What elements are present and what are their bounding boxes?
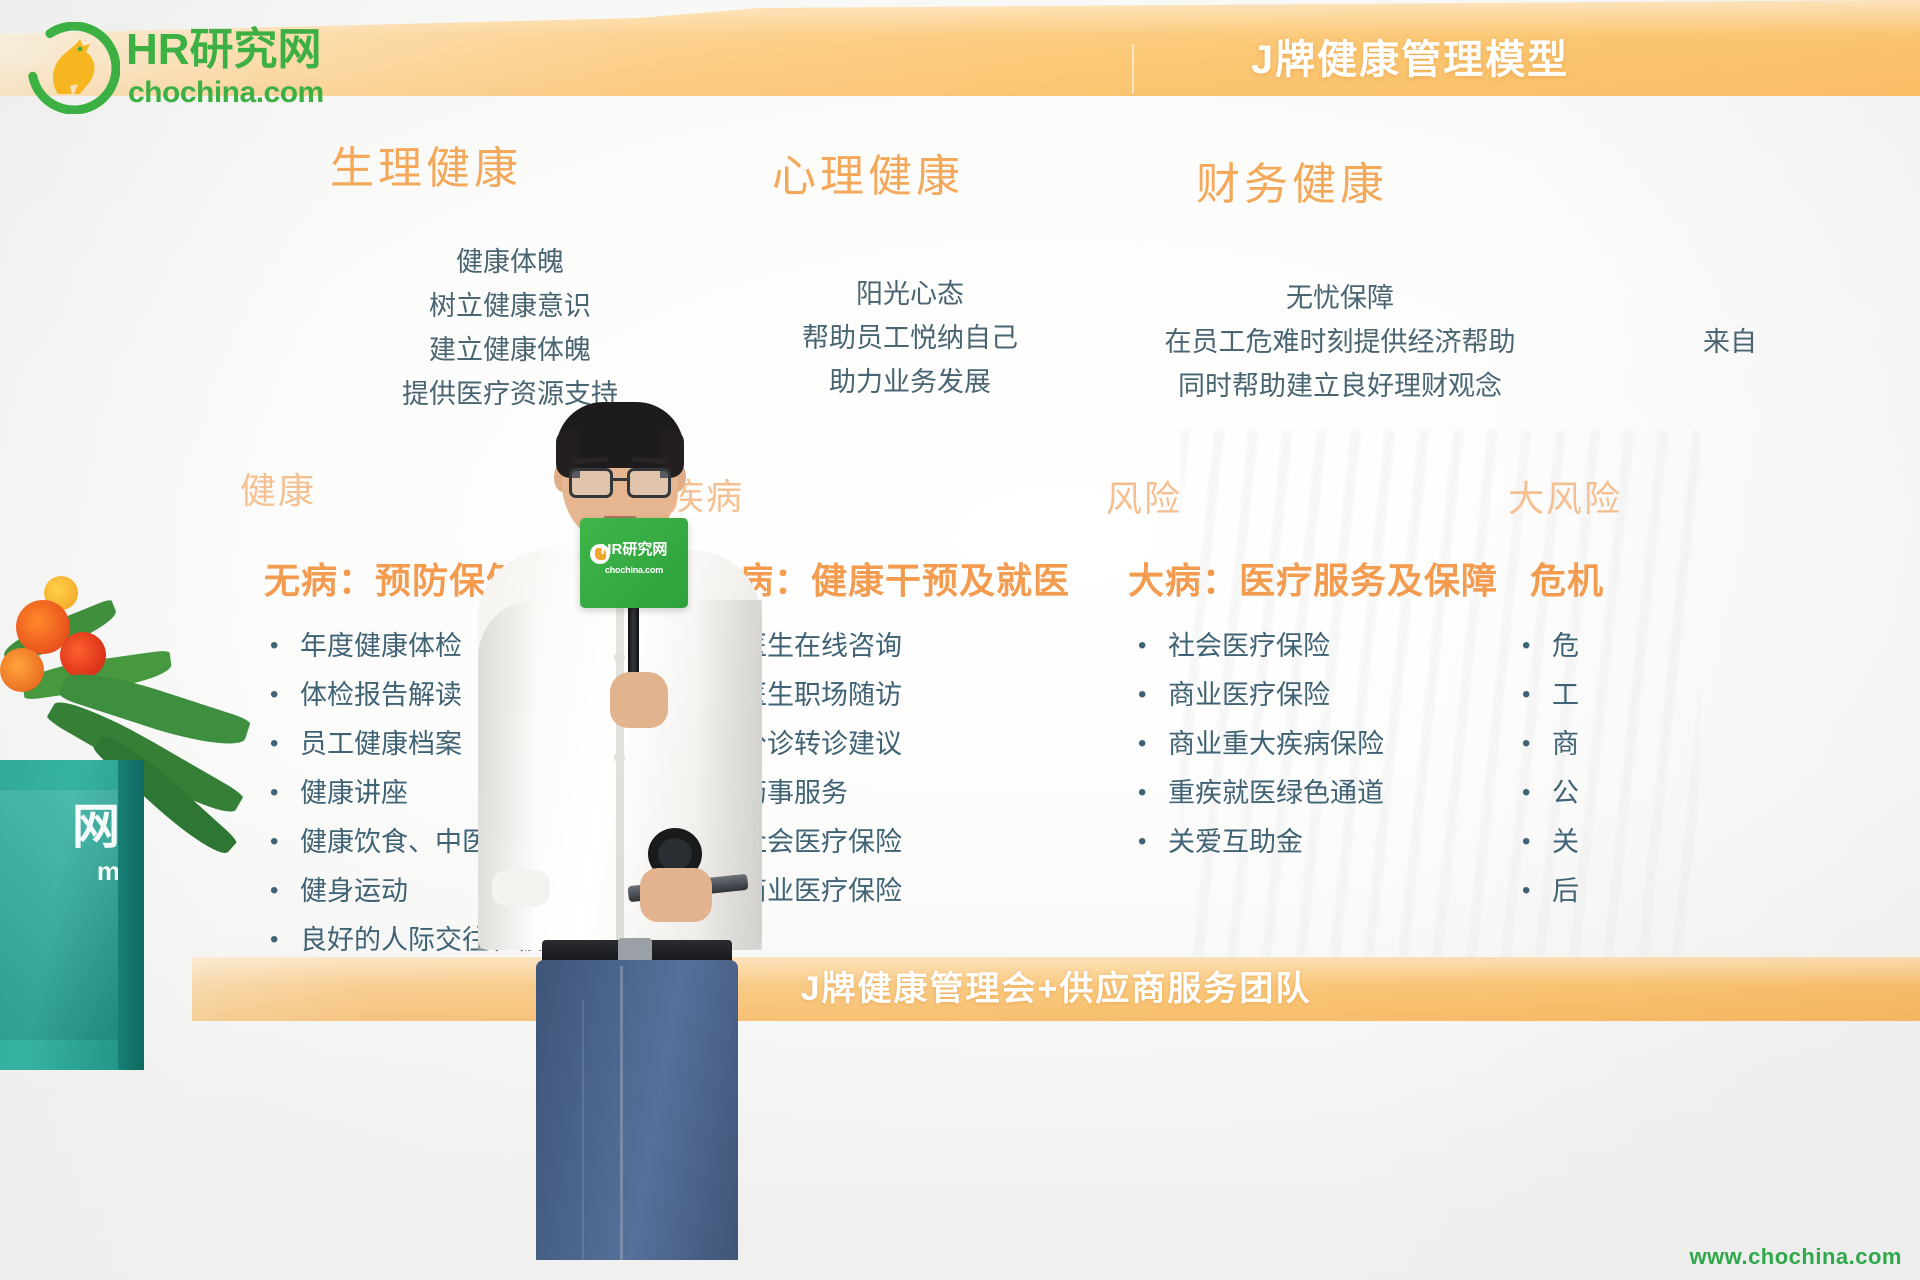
- description-line: 在员工危难时刻提供经济帮助: [1120, 320, 1560, 364]
- list-item: 公: [1512, 769, 1920, 818]
- list-item: 工: [1512, 671, 1920, 720]
- description-line: 健康体魄: [300, 240, 720, 284]
- wristwatch-face: [658, 838, 692, 870]
- shirt-button: [614, 652, 625, 663]
- microphone-logo-cube: HR研究网 chochina.com: [580, 518, 688, 608]
- pillar-title-financial: 财务健康: [1196, 148, 1388, 212]
- description-line: 树立健康意识: [300, 284, 720, 328]
- list-item: 商: [1512, 720, 1920, 769]
- bullet-list-major-illness: 社会医疗保险 商业医疗保险 商业重大疾病保险 重疾就医绿色通道 关爱互助金: [1128, 622, 1528, 867]
- section-heading-crisis: 危机: [1530, 552, 1604, 604]
- slide-footer-banner: J牌健康管理会+供应商服务团队: [192, 957, 1920, 1021]
- list-item: 关爱互助金: [1128, 818, 1528, 867]
- list-item: 危: [1512, 622, 1920, 671]
- description-line: 无忧保障: [1120, 276, 1560, 320]
- speaker-trousers: [536, 960, 738, 1260]
- hr-china-logo: HR研究网 chochina.com: [28, 18, 348, 118]
- glasses-lens-right: [627, 468, 671, 498]
- shirt-button: [614, 752, 625, 763]
- podium-side-edge: [118, 760, 144, 1070]
- glasses-lens-left: [569, 468, 613, 498]
- presentation-slide: J牌健康管理模型 HR研究网 chochina.com 生理健康 心理健康 财务…: [0, 0, 1920, 1280]
- description-line: 助力业务发展: [700, 360, 1120, 404]
- description-line: 阳光心态: [700, 272, 1120, 316]
- description-block-physical: 健康体魄 树立健康意识 建立健康体魄 提供医疗资源支持: [300, 240, 720, 416]
- horse-in-circle-icon: [28, 22, 120, 114]
- footer-title: J牌健康管理会+供应商服务团队: [192, 957, 1920, 1021]
- description-line: 同时帮助建立良好理财观念: [1120, 364, 1560, 408]
- trouser-crease: [620, 966, 623, 1260]
- speaker-person: HR研究网 chochina.com: [470, 400, 770, 1080]
- description-line: 帮助员工悦纳自己: [700, 316, 1120, 360]
- podium-wordmark: 网: [72, 801, 120, 854]
- site-watermark: www.chochina.com: [1689, 1244, 1902, 1270]
- glasses-bridge: [613, 478, 627, 481]
- speaker-left-hand: [610, 672, 668, 728]
- list-item: 商业医疗保险: [1128, 671, 1528, 720]
- list-item: 重疾就医绿色通道: [1128, 769, 1528, 818]
- logo-wordmark: HR研究网: [126, 24, 322, 76]
- mic-logo-wordmark: HR研究网: [601, 541, 668, 558]
- description-block-financial: 无忧保障 在员工危难时刻提供经济帮助 同时帮助建立良好理财观念: [1120, 276, 1560, 408]
- logo-url: chochina.com: [128, 76, 324, 110]
- description-block-fourth: 来自: [1540, 320, 1920, 364]
- speaker-right-hand: [640, 868, 712, 922]
- section-heading-major-illness: 大病：医疗服务及保障: [1128, 552, 1498, 604]
- stage-label-risk: 风险: [1106, 470, 1182, 522]
- podium-url: m: [0, 856, 120, 886]
- shirt-placket: [616, 586, 624, 946]
- list-item: 社会医疗保险: [1128, 622, 1528, 671]
- stage-label-big-risk: 大风险: [1508, 470, 1622, 522]
- bullet-list-crisis: 危 工 商 公 关 后: [1512, 622, 1920, 916]
- pillar-title-mental: 心理健康: [772, 140, 964, 204]
- mic-logo-url: chochina.com: [588, 560, 680, 580]
- list-item: 关: [1512, 818, 1920, 867]
- flower: [0, 648, 44, 692]
- slide-title: J牌健康管理模型: [1130, 30, 1690, 90]
- trouser-crease: [582, 1000, 584, 1260]
- list-item: 商业重大疾病保险: [1128, 720, 1528, 769]
- description-block-mental: 阳光心态 帮助员工悦纳自己 助力业务发展: [700, 272, 1120, 404]
- pillar-title-physical: 生理健康: [330, 132, 522, 196]
- list-item: 后: [1512, 867, 1920, 916]
- mic-logo-text: HR研究网 chochina.com: [588, 540, 680, 580]
- stage-label-health: 健康: [240, 462, 316, 514]
- flower: [60, 632, 106, 678]
- description-line: 建立健康体魄: [300, 328, 720, 372]
- podium-logo: 网 m: [0, 800, 120, 920]
- description-line: 来自: [1540, 320, 1920, 364]
- shirt-cuff-left: [492, 870, 550, 906]
